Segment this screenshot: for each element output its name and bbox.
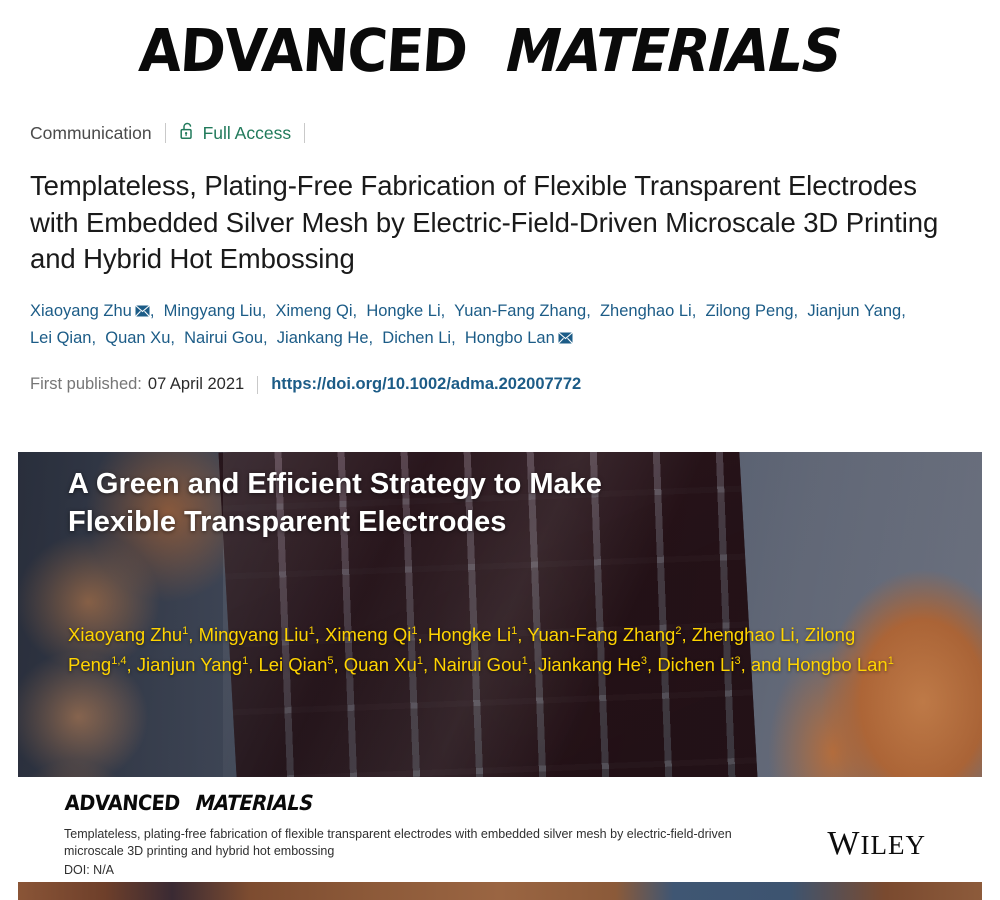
footer-logo-word-advanced: ADVANCED — [64, 791, 181, 815]
wiley-logo-cap: W — [827, 825, 860, 862]
cover-author-separator: , — [528, 654, 538, 675]
cover-author-separator: , — [188, 624, 198, 645]
cover-author-name: Yuan-Fang Zhang — [527, 624, 675, 645]
cover-author-name: Jianjun Yang — [137, 654, 242, 675]
cover-author-name: Mingyang Liu — [199, 624, 309, 645]
author-separator: , — [353, 302, 367, 320]
cover-author-name: Jiankang He — [538, 654, 641, 675]
author-list: Xiaoyang Zhu, Mingyang Liu, Ximeng Qi, H… — [30, 298, 960, 353]
cover-author-separator: , — [681, 624, 691, 645]
first-published-date: 07 April 2021 — [148, 375, 244, 394]
article-header: Communication Full Access Templateless, … — [0, 118, 1000, 394]
author-link[interactable]: Jianjun Yang — [807, 302, 901, 320]
author-link[interactable]: Mingyang Liu — [164, 302, 262, 320]
cover-author-separator: , — [795, 624, 805, 645]
author-link[interactable]: Hongke Li — [366, 302, 440, 320]
envelope-icon[interactable] — [558, 326, 573, 353]
footer-doi-text: DOI: N/A — [64, 863, 732, 877]
author-separator: , — [91, 329, 105, 347]
author-separator: , — [262, 302, 276, 320]
author-link[interactable]: Nairui Gou — [184, 329, 263, 347]
footer-caption-line-1: Templateless, plating-free fabrication o… — [64, 826, 732, 843]
author-link[interactable]: Quan Xu — [105, 329, 170, 347]
open-lock-icon — [179, 121, 196, 146]
cover-author-separator: , — [334, 654, 344, 675]
author-link[interactable]: Zilong Peng — [705, 302, 793, 320]
full-access-label: Full Access — [203, 123, 292, 144]
cover-author-name: Xiaoyang Zhu — [68, 624, 182, 645]
author-link[interactable]: Zhenghao Li — [600, 302, 692, 320]
cover-author-name: Nairui Gou — [433, 654, 521, 675]
publication-info: First published: 07 April 2021 https://d… — [30, 375, 970, 394]
author-separator: , — [451, 329, 465, 347]
advanced-materials-logo: ADVANCED MATERIALS — [137, 16, 864, 85]
cover-headline-line-2: Flexible Transparent Electrodes — [68, 504, 828, 542]
cover-headline: A Green and Efficient Strategy to Make F… — [68, 466, 828, 542]
author-separator: , — [441, 302, 454, 320]
author-separator: , — [369, 329, 383, 347]
cover-footer-band: ADVANCED MATERIALS Templateless, plating… — [18, 777, 982, 882]
cover-author-name: Quan Xu — [344, 654, 417, 675]
first-published-label: First published: — [30, 375, 142, 394]
author-link[interactable]: Yuan-Fang Zhang — [454, 302, 586, 320]
cover-image-banner[interactable]: A Green and Efficient Strategy to Make F… — [18, 452, 982, 777]
author-link[interactable]: Xiaoyang Zhu — [30, 302, 150, 320]
next-image-sliver — [18, 882, 982, 900]
wiley-logo-rest: ILEY — [861, 830, 926, 860]
author-link[interactable]: Dichen Li — [382, 329, 451, 347]
article-title: Templateless, Plating-Free Fabrication o… — [30, 168, 970, 278]
cover-author-name: Ximeng Qi — [325, 624, 411, 645]
cover-author-name: Hongbo Lan — [787, 654, 888, 675]
author-separator: , — [901, 302, 910, 320]
full-access-badge[interactable]: Full Access — [179, 121, 292, 146]
cover-author-separator: , — [248, 654, 258, 675]
cover-author-list: Xiaoyang Zhu1, Mingyang Liu1, Ximeng Qi1… — [68, 620, 898, 680]
footer-caption: Templateless, plating-free fabrication o… — [64, 826, 732, 859]
author-separator: , — [170, 329, 184, 347]
footer-left-block: ADVANCED MATERIALS Templateless, plating… — [64, 787, 732, 877]
author-separator: , — [692, 302, 706, 320]
cover-author-affiliation: 1,4 — [111, 655, 126, 667]
doi-link[interactable]: https://doi.org/10.1002/adma.202007772 — [271, 375, 581, 394]
footer-caption-line-2: microscale 3D printing and hybrid hot em… — [64, 843, 732, 860]
author-link[interactable]: Lei Qian — [30, 329, 91, 347]
author-separator: , — [586, 302, 600, 320]
cover-text-block: A Green and Efficient Strategy to Make F… — [68, 466, 942, 680]
kicker-divider-2 — [304, 123, 305, 143]
article-type-label: Communication — [30, 123, 152, 144]
logo-word-materials: MATERIALS — [505, 16, 842, 85]
author-separator: , — [794, 302, 808, 320]
cover-author-separator: , and — [741, 654, 787, 675]
cover-author-separator: , — [315, 624, 325, 645]
kicker-divider-1 — [165, 123, 166, 143]
article-page: ADVANCED MATERIALS Communication Full Ac… — [0, 0, 1000, 900]
cover-author-separator: , — [517, 624, 527, 645]
wiley-logo: WILEY — [827, 787, 940, 863]
author-separator: , — [263, 329, 277, 347]
cover-author-separator: , — [418, 624, 428, 645]
cover-headline-line-1: A Green and Efficient Strategy to Make — [68, 466, 828, 504]
author-link[interactable]: Hongbo Lan — [465, 329, 573, 347]
cover-author-separator: , — [423, 654, 433, 675]
journal-masthead: ADVANCED MATERIALS — [0, 0, 1000, 100]
envelope-icon[interactable] — [135, 299, 150, 326]
logo-word-advanced: ADVANCED — [137, 16, 469, 85]
pubinfo-divider — [257, 376, 258, 394]
cover-author-separator: , — [647, 654, 657, 675]
cover-author-affiliation: 1 — [888, 655, 894, 667]
cover-author-name: Dichen Li — [657, 654, 734, 675]
author-link[interactable]: Ximeng Qi — [276, 302, 353, 320]
article-kicker-row: Communication Full Access — [30, 118, 970, 148]
author-separator: , — [150, 302, 164, 320]
cover-author-name: Lei Qian — [258, 654, 327, 675]
author-link[interactable]: Jiankang He — [277, 329, 369, 347]
cover-author-name: Zhenghao Li — [692, 624, 795, 645]
footer-journal-logo: ADVANCED MATERIALS — [64, 791, 732, 815]
footer-logo-word-materials: MATERIALS — [195, 791, 314, 815]
cover-author-separator: , — [127, 654, 137, 675]
cover-author-name: Hongke Li — [428, 624, 511, 645]
